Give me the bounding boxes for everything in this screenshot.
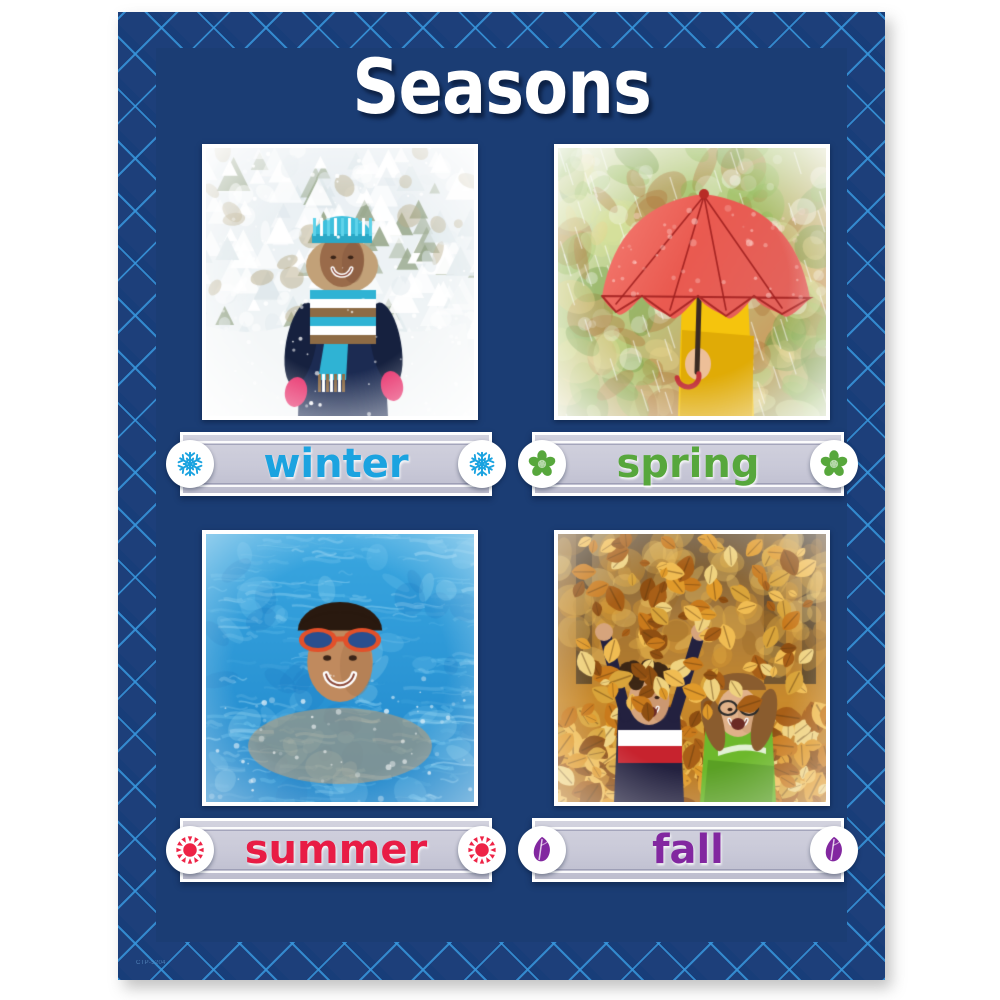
season-cell-winter: winter bbox=[160, 144, 512, 522]
poster-card: Seasons winter bbox=[118, 12, 885, 980]
summer-name-plate[interactable]: summer bbox=[166, 814, 506, 886]
spring-photo-frame bbox=[554, 144, 830, 420]
leaf-icon bbox=[810, 826, 858, 874]
snowflake-icon bbox=[458, 440, 506, 488]
fall-photo bbox=[558, 534, 826, 802]
fall-label: fall bbox=[570, 814, 806, 886]
fall-name-plate[interactable]: fall bbox=[518, 814, 858, 886]
season-cell-fall: fall bbox=[512, 530, 864, 908]
season-cell-spring: spring bbox=[512, 144, 864, 522]
summer-photo bbox=[206, 534, 474, 802]
sun-icon bbox=[166, 826, 214, 874]
spring-photo bbox=[558, 148, 826, 416]
season-cell-summer: summer bbox=[160, 530, 512, 908]
poster-title-zone: Seasons bbox=[156, 32, 847, 142]
fineprint-code: CTP-5204 bbox=[136, 960, 166, 966]
spring-label: spring bbox=[570, 428, 806, 500]
fall-photo-frame bbox=[554, 530, 830, 806]
leaf-icon bbox=[518, 826, 566, 874]
seasons-poster-root: Seasons winter bbox=[0, 0, 1000, 1000]
spring-name-plate[interactable]: spring bbox=[518, 428, 858, 500]
page-title: Seasons bbox=[352, 49, 651, 125]
sun-icon bbox=[458, 826, 506, 874]
snowflake-icon bbox=[166, 440, 214, 488]
summer-photo-frame bbox=[202, 530, 478, 806]
winter-name-plate[interactable]: winter bbox=[166, 428, 506, 500]
winter-photo-frame bbox=[202, 144, 478, 420]
flower-icon bbox=[518, 440, 566, 488]
flower-icon bbox=[810, 440, 858, 488]
summer-label: summer bbox=[218, 814, 454, 886]
seasons-grid: winter bbox=[156, 140, 847, 932]
winter-photo bbox=[206, 148, 474, 416]
winter-label: winter bbox=[218, 428, 454, 500]
